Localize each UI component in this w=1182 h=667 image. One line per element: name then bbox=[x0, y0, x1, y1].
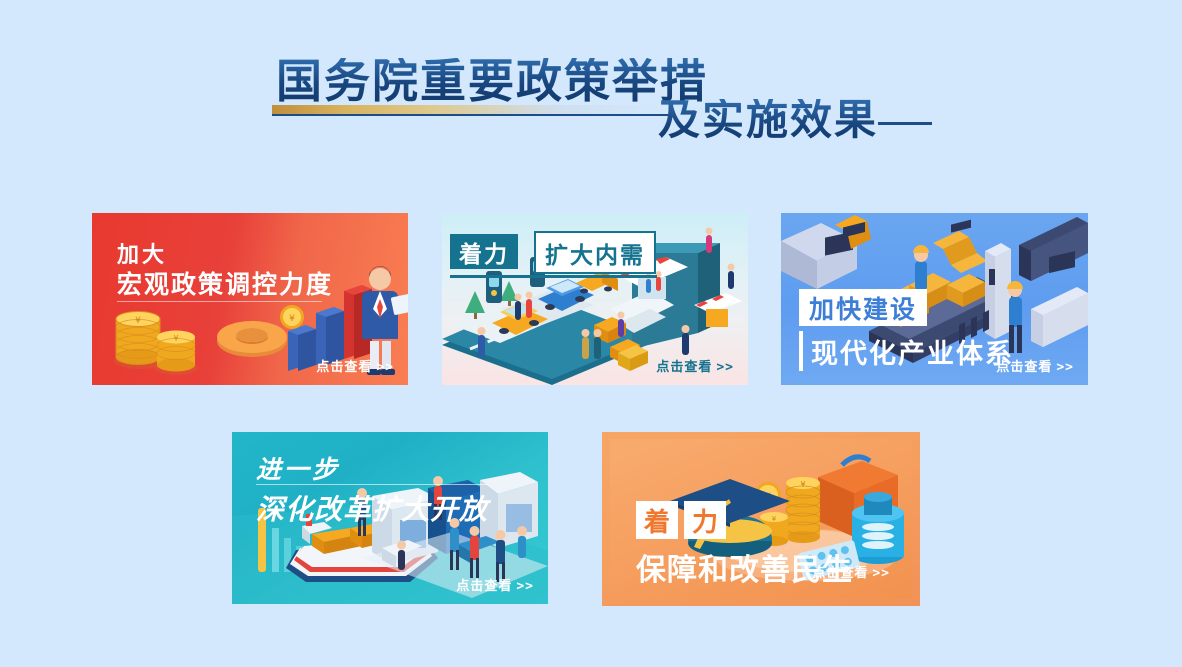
card-modern-industrial-system[interactable]: 加快建设 现代化产业体系 点击查看>> bbox=[781, 213, 1088, 385]
card-macro-policy[interactable]: ¥ ¥ bbox=[92, 213, 408, 385]
card5-cta[interactable]: 点击查看>> bbox=[812, 562, 890, 581]
card1-title-main: 宏观政策调控力度 bbox=[117, 265, 333, 301]
card-peoples-livelihood[interactable]: ¥ ¥ ¥ bbox=[602, 432, 920, 606]
card2-cta[interactable]: 点击查看>> bbox=[656, 356, 734, 375]
svg-text:¥: ¥ bbox=[135, 316, 141, 326]
card5-cta-arrow-icon: >> bbox=[872, 566, 890, 581]
svg-text:¥: ¥ bbox=[173, 334, 178, 343]
card2-title-box2: 扩大内需 bbox=[534, 231, 656, 274]
card2-title-underbar bbox=[450, 275, 657, 278]
page-title-line1: 国务院重要政策举措 bbox=[276, 58, 708, 104]
svg-text:¥: ¥ bbox=[289, 314, 295, 324]
card4-title-main: 深化改革扩大开放 bbox=[256, 488, 488, 528]
card1-cta[interactable]: 点击查看>> bbox=[316, 356, 394, 375]
card5-cta-label: 点击查看 bbox=[812, 566, 868, 581]
card3-title-main-wrap: 现代化产业体系 bbox=[799, 331, 1014, 371]
card3-title-box-label: 加快建设 bbox=[809, 290, 917, 326]
card2-title-box1-label: 着力 bbox=[459, 235, 509, 269]
card-deepen-reform[interactable]: 进一步 深化改革扩大开放 点击查看>> bbox=[232, 432, 548, 604]
card3-cta-arrow-icon: >> bbox=[1056, 360, 1074, 375]
page-title-line2: 及实施效果 bbox=[658, 99, 878, 141]
title-blue-rule bbox=[272, 114, 672, 116]
card1-cta-arrow-icon: >> bbox=[376, 360, 394, 375]
card2-title-box2-label: 扩大内需 bbox=[545, 236, 645, 270]
card5-title-char1: 着 bbox=[644, 502, 670, 539]
svg-text:¥: ¥ bbox=[772, 515, 777, 523]
card3-cta[interactable]: 点击查看>> bbox=[996, 356, 1074, 375]
card3-title-box: 加快建设 bbox=[799, 289, 927, 326]
card5-title-char1-box: 着 bbox=[636, 501, 678, 539]
card1-title-divider bbox=[117, 301, 322, 302]
card4-title-top: 进一步 bbox=[256, 450, 340, 486]
card5-title-char2: 力 bbox=[692, 502, 718, 539]
title-gold-gradient-bar bbox=[272, 105, 672, 114]
card1-cta-label: 点击查看 bbox=[316, 360, 372, 375]
card-expand-domestic-demand[interactable]: 着力 扩大内需 点击查看>> bbox=[442, 213, 748, 385]
page-header: 国务院重要政策举措 及实施效果 bbox=[0, 0, 1182, 175]
card2-cta-label: 点击查看 bbox=[656, 360, 712, 375]
card2-title-box1: 着力 bbox=[450, 234, 518, 269]
card5-title-char2-box: 力 bbox=[684, 501, 726, 539]
card5-inner-panel: ¥ ¥ ¥ bbox=[610, 439, 912, 599]
card2-cta-arrow-icon: >> bbox=[716, 360, 734, 375]
card3-cta-label: 点击查看 bbox=[996, 360, 1052, 375]
svg-text:¥: ¥ bbox=[800, 480, 805, 489]
card4-cta-arrow-icon: >> bbox=[516, 579, 534, 594]
card4-title-divider bbox=[256, 484, 488, 485]
card3-title-main: 现代化产业体系 bbox=[811, 332, 1014, 371]
card4-cta-label: 点击查看 bbox=[456, 579, 512, 594]
card4-cta[interactable]: 点击查看>> bbox=[456, 575, 534, 594]
title-dash-decoration bbox=[878, 122, 932, 125]
